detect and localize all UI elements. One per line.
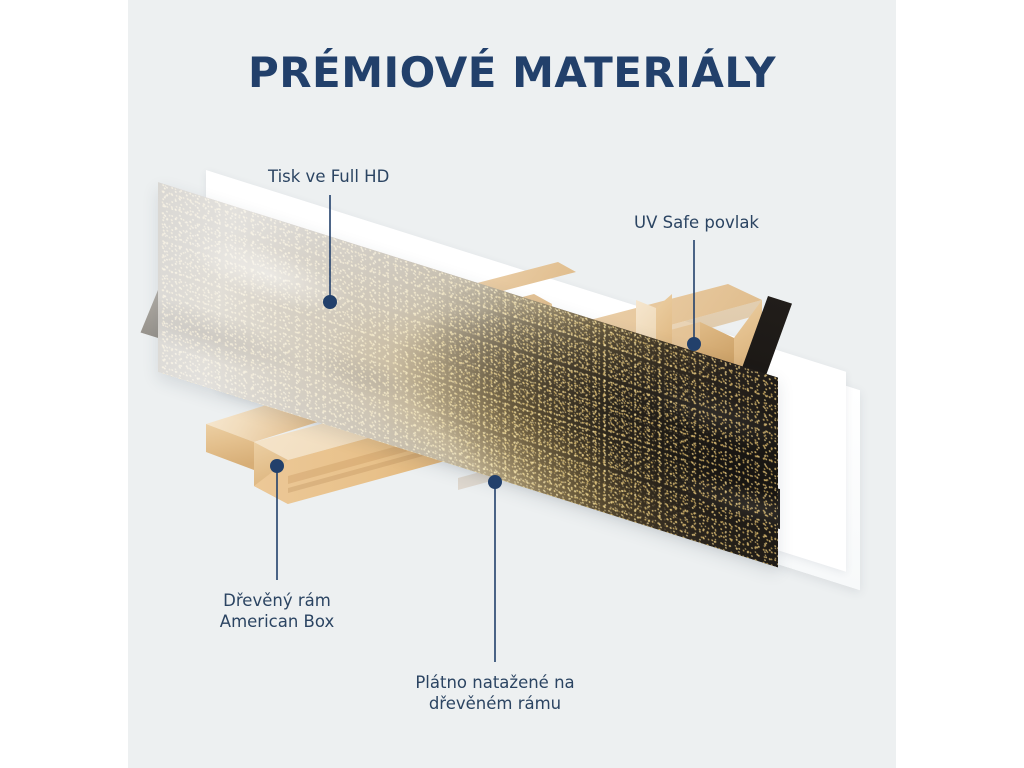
callout-label-print-hd: Tisk ve Full HD xyxy=(268,166,389,187)
callout-label-wooden-frame: Dřevěný rám American Box xyxy=(128,590,427,632)
product-infographic-panel: PRÉMIOVÉ MATERIÁLY xyxy=(128,0,896,768)
screenshot-stage: PRÉMIOVÉ MATERIÁLY xyxy=(0,0,1024,768)
callout-label-uv-coating: UV Safe povlak xyxy=(634,212,759,233)
callout-label-stretched-canvas: Plátno natažené na dřevěném rámu xyxy=(345,672,645,714)
exploded-canvas-illustration xyxy=(128,0,896,768)
